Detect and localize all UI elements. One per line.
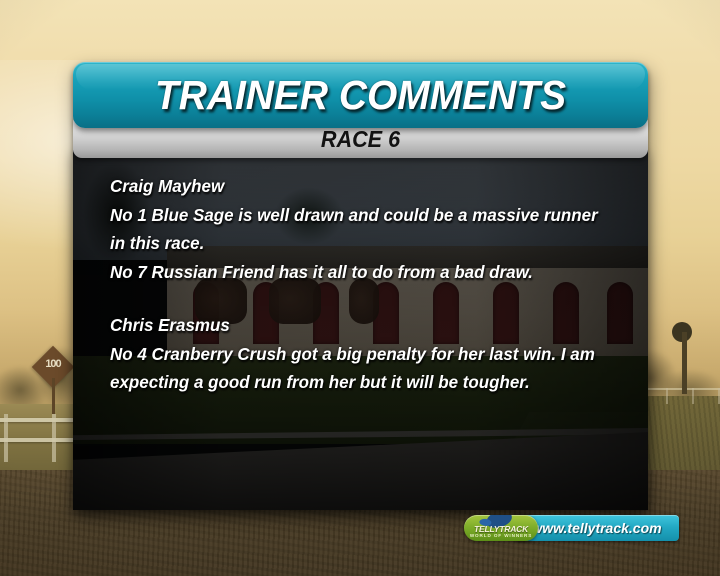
tellytrack-url: www.tellytrack.com — [531, 520, 661, 536]
comments-body: Craig Mayhew No 1 Blue Sage is well draw… — [73, 150, 648, 510]
trainer-comment-block: Chris Erasmus No 4 Cranberry Crush got a… — [110, 311, 630, 397]
background-pole — [682, 332, 687, 394]
trainer-comments-panel: Craig Mayhew No 1 Blue Sage is well draw… — [73, 62, 648, 510]
trainer-comment-block: Craig Mayhew No 1 Blue Sage is well draw… — [110, 172, 630, 286]
tellytrack-logo-tagline: WORLD OF WINNERS — [464, 533, 538, 538]
comment-line: No 4 Cranberry Crush got a big penalty f… — [110, 340, 614, 369]
comments-text-container: Craig Mayhew No 1 Blue Sage is well draw… — [110, 172, 630, 397]
tellytrack-url-bar[interactable]: www.tellytrack.com — [514, 515, 679, 541]
comment-line: No 1 Blue Sage is well drawn and could b… — [110, 201, 614, 230]
trainer-name: Craig Mayhew — [110, 172, 614, 201]
race-subtitle: RACE 6 — [90, 126, 631, 153]
page-title: TRAINER COMMENTS — [87, 62, 633, 128]
furlong-marker-label: 100 — [38, 358, 68, 370]
trainer-name: Chris Erasmus — [110, 311, 614, 340]
comment-line: expecting a good run from her but it wil… — [110, 368, 614, 397]
comment-line: in this race. — [110, 229, 614, 258]
panel-title-bar: TRAINER COMMENTS — [73, 62, 648, 128]
furlong-marker-sign: 100 — [38, 352, 78, 412]
comment-line: No 7 Russian Friend has it all to do fro… — [110, 258, 614, 287]
tellytrack-logo: TELLYTRACK WORLD OF WINNERS — [464, 515, 538, 541]
